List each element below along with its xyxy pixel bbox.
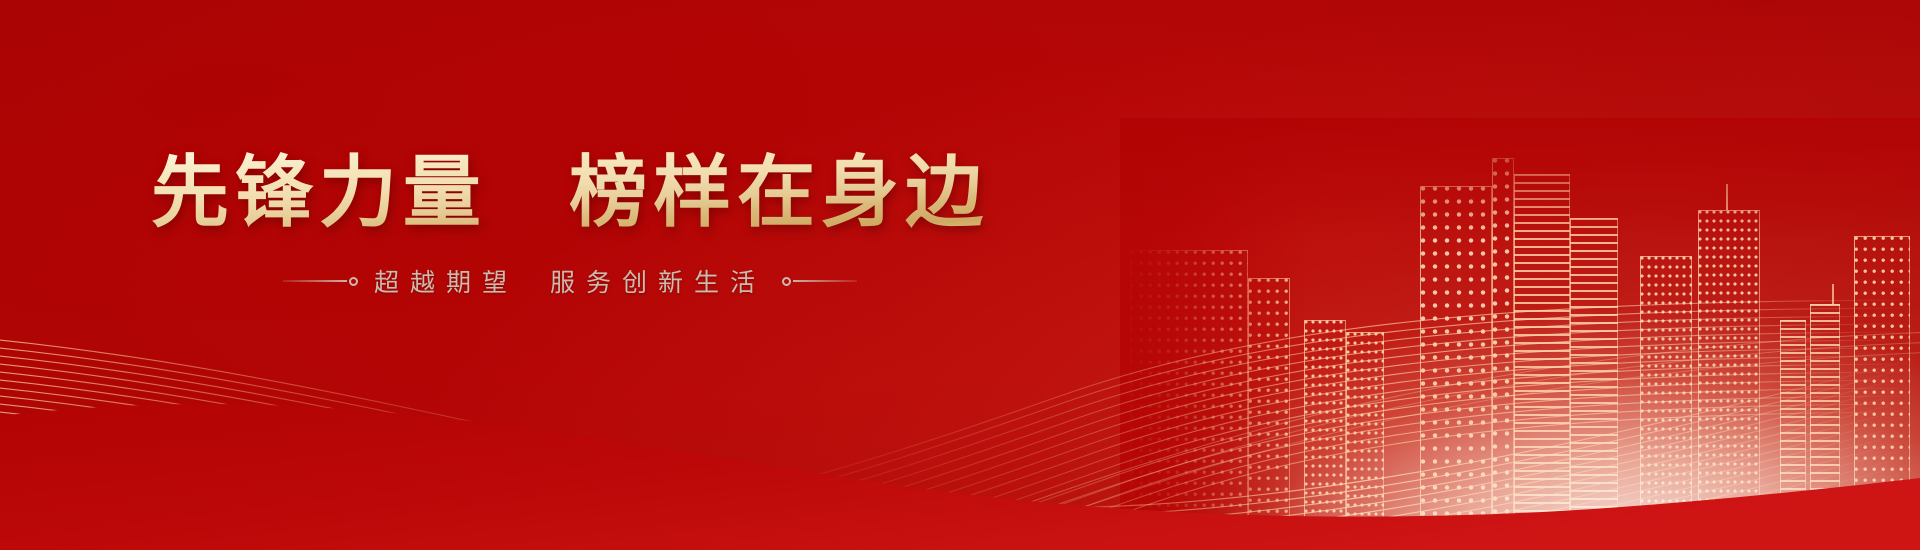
building-3c-edge <box>1514 174 1570 518</box>
ornament-dot-right <box>782 277 791 286</box>
building-4-edge <box>1640 256 1692 518</box>
building-6-spire <box>1832 284 1834 304</box>
page-title: 先锋力量 榜样在身边 <box>151 150 989 237</box>
page-subtitle: 超越期望 服务创新生活 <box>374 263 766 299</box>
building-2b-edge <box>1346 332 1384 518</box>
banner-root: 先锋力量 榜样在身边 超越期望 服务创新生活 <box>0 0 1920 550</box>
headline-part-2: 榜样在身边 <box>569 148 989 238</box>
building-5-edge <box>1698 210 1760 518</box>
line-dot-ornament-left <box>283 277 358 286</box>
building-3-edge <box>1420 186 1492 518</box>
building-1-edge <box>1130 250 1248 518</box>
city-skyline <box>1120 118 1920 518</box>
ornament-line-left <box>283 280 347 282</box>
ornament-dot-left <box>349 277 358 286</box>
building-6b-edge <box>1810 304 1840 518</box>
subtitle-part-2: 服务创新生活 <box>550 268 766 297</box>
building-2-edge <box>1304 320 1346 518</box>
building-7-edge <box>1854 236 1910 518</box>
headline-part-1: 先锋力量 <box>151 148 487 238</box>
subtitle-part-1: 超越期望 <box>374 268 518 297</box>
line-dot-ornament-right <box>782 277 857 286</box>
building-3d-edge <box>1570 218 1618 518</box>
building-6-edge <box>1780 320 1806 518</box>
ornament-line-right <box>793 280 857 282</box>
subtitle-separator <box>518 268 550 297</box>
subtitle-row: 超越期望 服务创新生活 <box>283 263 857 299</box>
building-1b-edge <box>1248 278 1290 518</box>
building-5-spire <box>1726 184 1728 210</box>
building-3b-edge <box>1492 158 1514 518</box>
headline-block: 先锋力量 榜样在身边 超越期望 服务创新生活 <box>0 0 1140 550</box>
headline-separator <box>487 148 569 238</box>
